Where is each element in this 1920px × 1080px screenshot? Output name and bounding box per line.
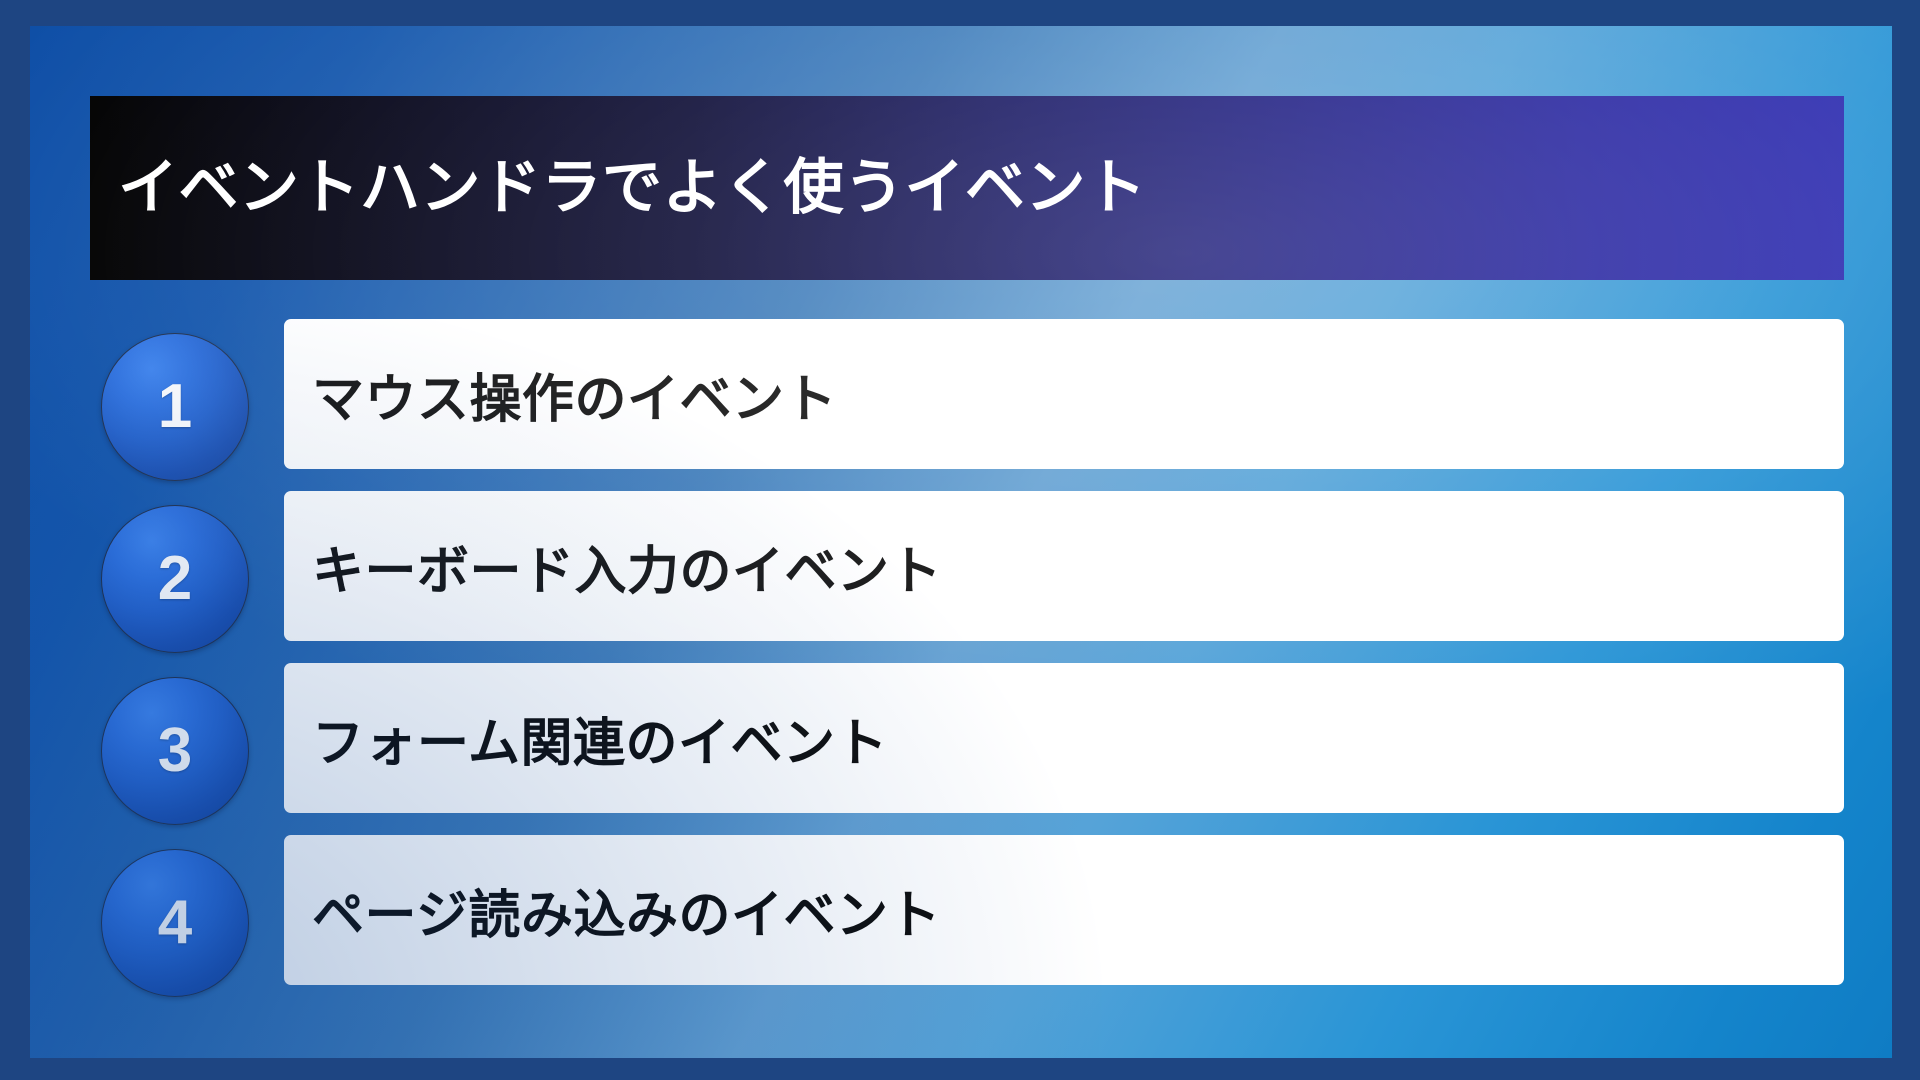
list-item[interactable]: 1 マウス操作のイベント (90, 319, 1844, 469)
step-badge-4: 4 (101, 849, 249, 997)
item-label: ページ読み込みのイベント (312, 873, 941, 948)
item-label: キーボード入力のイベント (312, 529, 942, 604)
item-card-1[interactable]: マウス操作のイベント (284, 319, 1844, 469)
list-item[interactable]: 3 フォーム関連のイベント (90, 663, 1844, 813)
slide-panel: イベントハンドラでよく使うイベント 1 マウス操作のイベント 2 キーボード入力… (30, 26, 1892, 1058)
step-number: 3 (158, 720, 192, 782)
title-banner: イベントハンドラでよく使うイベント (90, 96, 1844, 280)
list-item[interactable]: 4 ページ読み込みのイベント (90, 835, 1844, 985)
step-number: 4 (158, 892, 192, 954)
item-label: フォーム関連のイベント (312, 701, 888, 776)
step-number: 2 (158, 548, 192, 610)
step-number: 1 (158, 376, 192, 438)
step-badge-1: 1 (101, 333, 249, 481)
list-item[interactable]: 2 キーボード入力のイベント (90, 491, 1844, 641)
step-badge-2: 2 (101, 505, 249, 653)
step-badge-3: 3 (101, 677, 249, 825)
item-card-2[interactable]: キーボード入力のイベント (284, 491, 1844, 641)
item-label: マウス操作のイベント (312, 357, 837, 432)
item-card-4[interactable]: ページ読み込みのイベント (284, 835, 1844, 985)
slide-frame: イベントハンドラでよく使うイベント 1 マウス操作のイベント 2 キーボード入力… (0, 0, 1920, 1080)
slide-title: イベントハンドラでよく使うイベント (118, 155, 1147, 221)
item-card-3[interactable]: フォーム関連のイベント (284, 663, 1844, 813)
